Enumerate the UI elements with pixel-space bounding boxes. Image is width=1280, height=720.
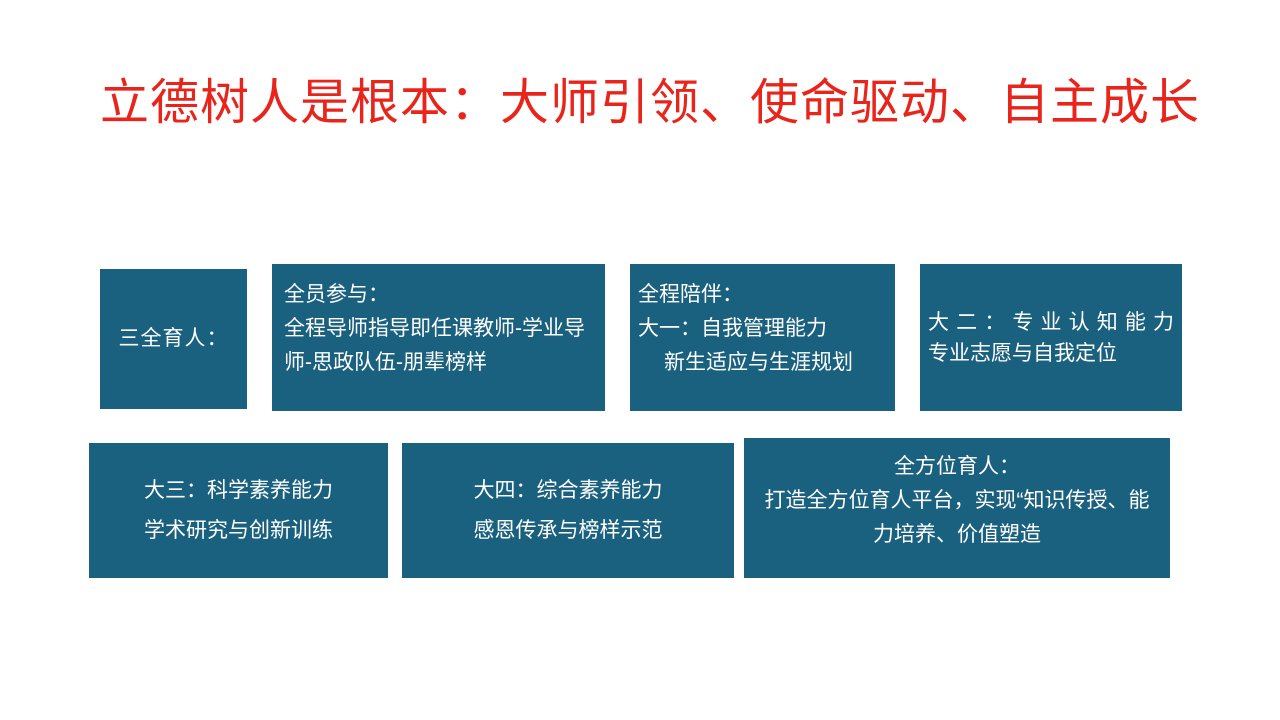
content-line: 全程陪伴：: [638, 278, 889, 312]
content-line: 新生适应与生涯规划: [638, 346, 889, 380]
content-box-quanyuan-canyu-body: 全员参与： 全程导师指导即任课教师-学业导师-思政队伍-朋辈榜样: [284, 278, 595, 380]
content-box-quanfangwei-yuren-body: 全方位育人： 打造全方位育人平台，实现“知识传授、能力培养、价值塑造: [760, 450, 1154, 552]
content-line: 大三：科学素养能力: [89, 471, 388, 511]
content-box-year-two[interactable]: 大二：专业认知能力 专业志愿与自我定位: [920, 264, 1182, 411]
content-box-year-four[interactable]: 大四：综合素养能力 感恩传承与榜样示范: [402, 443, 734, 578]
content-line: 全程导师指导即任课教师-学业导师-思政队伍-朋辈榜样: [284, 312, 595, 380]
content-box-quanyuan-canyu[interactable]: 全员参与： 全程导师指导即任课教师-学业导师-思政队伍-朋辈榜样: [272, 264, 605, 411]
content-line: 大一：自我管理能力: [638, 312, 889, 346]
content-box-year-four-body: 大四：综合素养能力 感恩传承与榜样示范: [402, 471, 734, 551]
content-line: 打造全方位育人平台，实现“知识传授、能力培养、价值塑造: [760, 484, 1154, 552]
content-box-sanquan-yuren-body: 三全育人：: [100, 324, 247, 354]
content-box-quanfangwei-yuren[interactable]: 全方位育人： 打造全方位育人平台，实现“知识传授、能力培养、价值塑造: [744, 438, 1170, 578]
content-line: 学术研究与创新训练: [89, 511, 388, 551]
content-line: 三全育人：: [100, 324, 247, 354]
slide-canvas: 立德树人是根本：大师引领、使命驱动、自主成长 三全育人： 全员参与： 全程导师指…: [0, 0, 1280, 720]
page-title: 立德树人是根本：大师引领、使命驱动、自主成长: [100, 68, 1180, 138]
content-box-year-three-body: 大三：科学素养能力 学术研究与创新训练: [89, 471, 388, 551]
content-line: 感恩传承与榜样示范: [402, 511, 734, 551]
content-line: 大四：综合素养能力: [402, 471, 734, 511]
content-line: 全员参与：: [284, 278, 595, 312]
content-box-sanquan-yuren[interactable]: 三全育人：: [100, 269, 247, 409]
content-box-year-three[interactable]: 大三：科学素养能力 学术研究与创新训练: [89, 443, 388, 578]
content-line: 大二：专业认知能力: [928, 307, 1174, 338]
content-box-year-two-body: 大二：专业认知能力 专业志愿与自我定位: [920, 307, 1182, 369]
content-line: 专业志愿与自我定位: [928, 338, 1174, 369]
content-box-quancheng-peiban[interactable]: 全程陪伴： 大一：自我管理能力 新生适应与生涯规划: [630, 264, 895, 411]
content-box-quancheng-peiban-body: 全程陪伴： 大一：自我管理能力 新生适应与生涯规划: [638, 278, 889, 380]
content-line: 全方位育人：: [760, 450, 1154, 484]
